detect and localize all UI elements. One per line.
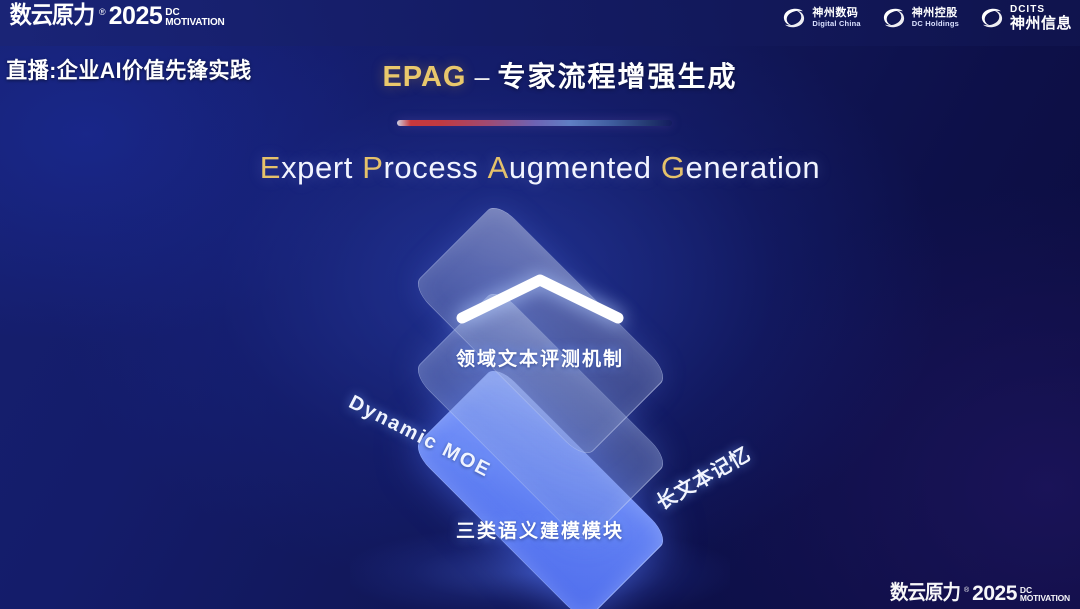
subtitle-cap-a: A (488, 150, 509, 185)
partner-text-digital-china: 神州数码 Digital China (812, 8, 860, 27)
title-dash: – (475, 62, 490, 92)
title-chinese: 专家流程增强生成 (498, 61, 738, 92)
subtitle-cap-e: E (260, 150, 281, 185)
brand-logo-year: 2025 (109, 4, 163, 29)
subtitle-cap-p: P (362, 150, 383, 185)
swirl-logo-icon (979, 5, 1005, 31)
subtitle-rest-augmented: ugmented (509, 150, 652, 185)
partner-text-dc-holdings: 神州控股 DC Holdings (912, 8, 959, 27)
partner-name-cn: 神州信息 (1010, 16, 1072, 32)
subtitle-rest-expert: xpert (281, 150, 353, 185)
watermark-year: 2025 (972, 583, 1017, 604)
brand-logo-chinese: 数云原力 (10, 4, 95, 28)
partner-name-en: Digital China (812, 20, 860, 28)
watermark-motivation: MOTIVATION (1020, 594, 1070, 602)
watermark-chinese: 数云原力 (890, 583, 960, 603)
brand-logo: 数云原力 ® 2025 DC MOTIVATION (6, 3, 225, 28)
page-subtitle: Expert Process Augmented Generation (0, 150, 1080, 186)
title-acronym: EPAG (382, 61, 466, 93)
watermark-registered-mark: ® (964, 587, 969, 594)
stack-layer-top[interactable] (290, 228, 790, 433)
watermark-dc-motivation: DC MOTIVATION (1020, 586, 1070, 602)
watermark-logo: 数云原力 ® 2025 DC MOTIVATION (887, 582, 1070, 603)
partner-name-en: DC Holdings (912, 20, 959, 28)
layer-stack-diagram: 领域文本评测机制 Dynamic MOE 长文本记忆 三类语义建模模块 (290, 228, 790, 593)
stack-plate-top-surface (411, 201, 670, 460)
title-divider (397, 120, 672, 126)
slide-canvas: 数云原力 ® 2025 DC MOTIVATION 直播:企业AI价值先锋实践 … (0, 0, 1080, 609)
subtitle-rest-process: rocess (384, 150, 479, 185)
partner-name-en: DCITS (1010, 5, 1072, 16)
swirl-logo-icon (881, 5, 907, 31)
subtitle-rest-generation: eneration (686, 150, 821, 185)
brand-logo-registered-mark: ® (99, 8, 106, 17)
brand-logo-dc-motivation: DC MOTIVATION (165, 8, 224, 27)
partner-logo-digital-china: 神州数码 Digital China (781, 5, 860, 31)
subtitle-cap-g: G (661, 150, 686, 185)
partner-logo-dcits: DCITS 神州信息 (979, 5, 1072, 31)
swirl-logo-icon (781, 5, 807, 31)
brand-logo-motivation: MOTIVATION (165, 18, 224, 28)
partner-logos: 神州数码 Digital China 神州控股 DC Holdings (781, 5, 1072, 31)
partner-text-dcits: DCITS 神州信息 (1010, 5, 1072, 31)
partner-logo-dc-holdings: 神州控股 DC Holdings (881, 5, 959, 31)
live-broadcast-title: 直播:企业AI价值先锋实践 (6, 53, 252, 85)
